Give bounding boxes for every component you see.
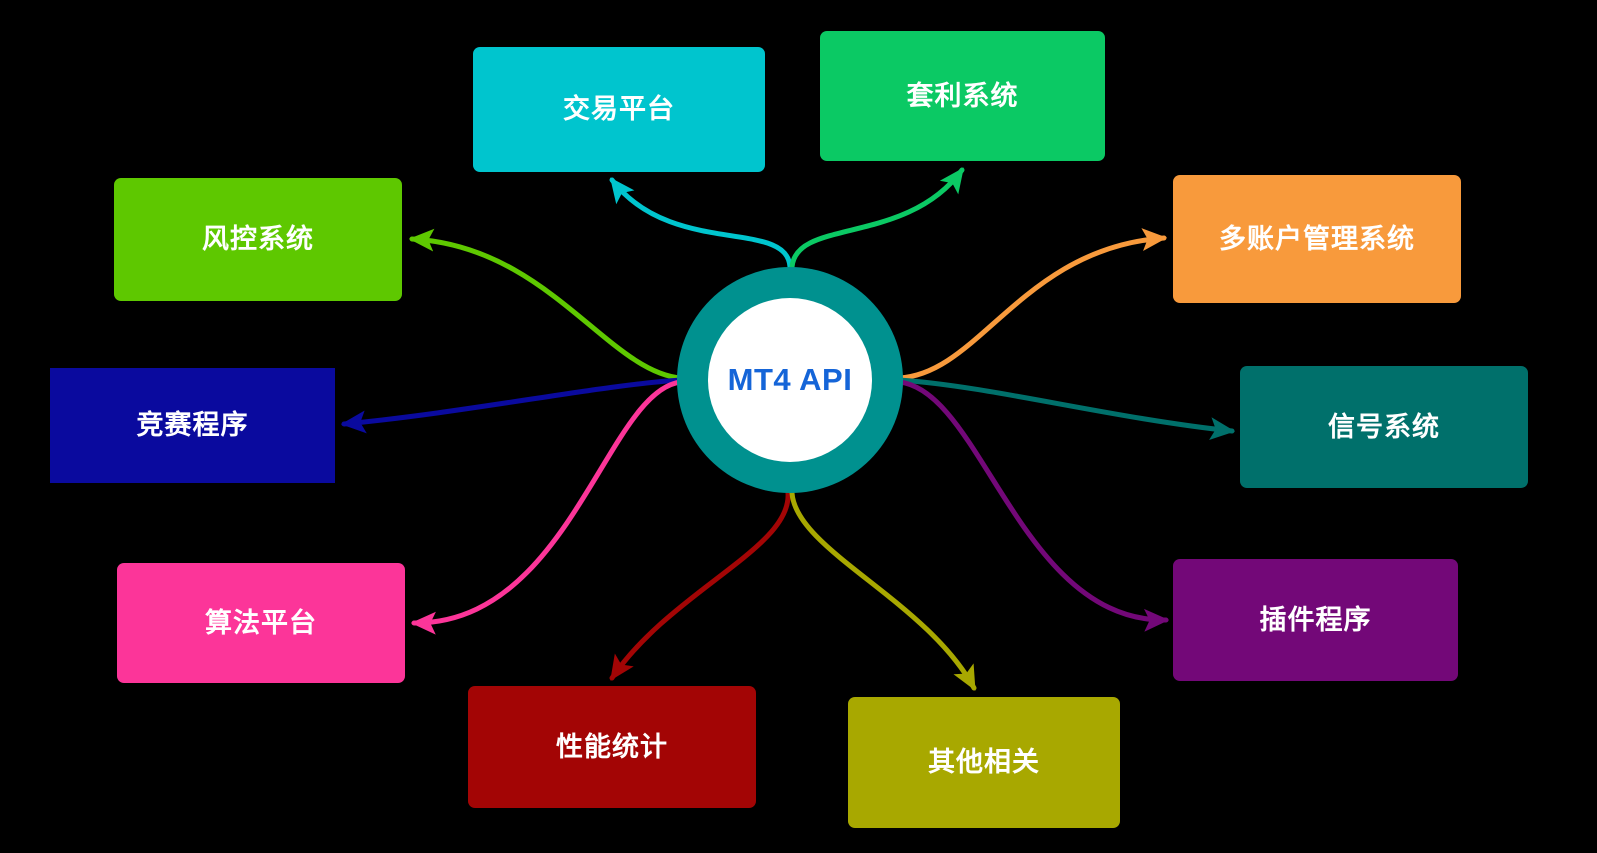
node-arbitrage-system[interactable]: 套利系统	[820, 31, 1105, 161]
edge-to-performance-statistics	[612, 493, 788, 678]
node-trading-platform[interactable]: 交易平台	[473, 47, 765, 172]
diagram-canvas: 交易平台套利系统风控系统竞赛程序算法平台性能统计其他相关多账户管理系统信号系统插…	[0, 0, 1597, 853]
hub-label: MT4 API	[728, 362, 853, 398]
node-label-plugin-program: 插件程序	[1260, 604, 1372, 636]
node-label-algorithm-platform: 算法平台	[205, 607, 317, 639]
hub-center-circle[interactable]: MT4 API	[708, 298, 872, 462]
edge-to-other-related	[792, 493, 974, 688]
node-label-multi-account-management-system: 多账户管理系统	[1219, 223, 1415, 255]
node-contest-program[interactable]: 竞赛程序	[50, 368, 335, 483]
node-label-performance-statistics: 性能统计	[556, 731, 668, 763]
node-label-signal-system: 信号系统	[1328, 411, 1440, 443]
node-plugin-program[interactable]: 插件程序	[1173, 559, 1458, 681]
node-label-contest-program: 竞赛程序	[137, 409, 249, 441]
node-label-arbitrage-system: 套利系统	[907, 80, 1019, 112]
edge-to-signal-system	[899, 380, 1232, 431]
node-risk-control-system[interactable]: 风控系统	[114, 178, 402, 301]
node-signal-system[interactable]: 信号系统	[1240, 366, 1528, 488]
node-label-trading-platform: 交易平台	[563, 93, 675, 125]
edge-to-trading-platform	[612, 180, 790, 267]
node-algorithm-platform[interactable]: 算法平台	[117, 563, 405, 683]
node-performance-statistics[interactable]: 性能统计	[468, 686, 756, 808]
edge-to-multi-account-management-system	[899, 238, 1164, 378]
node-label-risk-control-system: 风控系统	[202, 223, 314, 255]
edge-to-arbitrage-system	[792, 170, 962, 267]
node-multi-account-management-system[interactable]: 多账户管理系统	[1173, 175, 1461, 303]
edge-to-risk-control-system	[412, 239, 681, 378]
edge-to-algorithm-platform	[414, 382, 681, 623]
edge-to-contest-program	[344, 380, 681, 424]
node-other-related[interactable]: 其他相关	[848, 697, 1120, 828]
node-label-other-related: 其他相关	[928, 746, 1040, 778]
